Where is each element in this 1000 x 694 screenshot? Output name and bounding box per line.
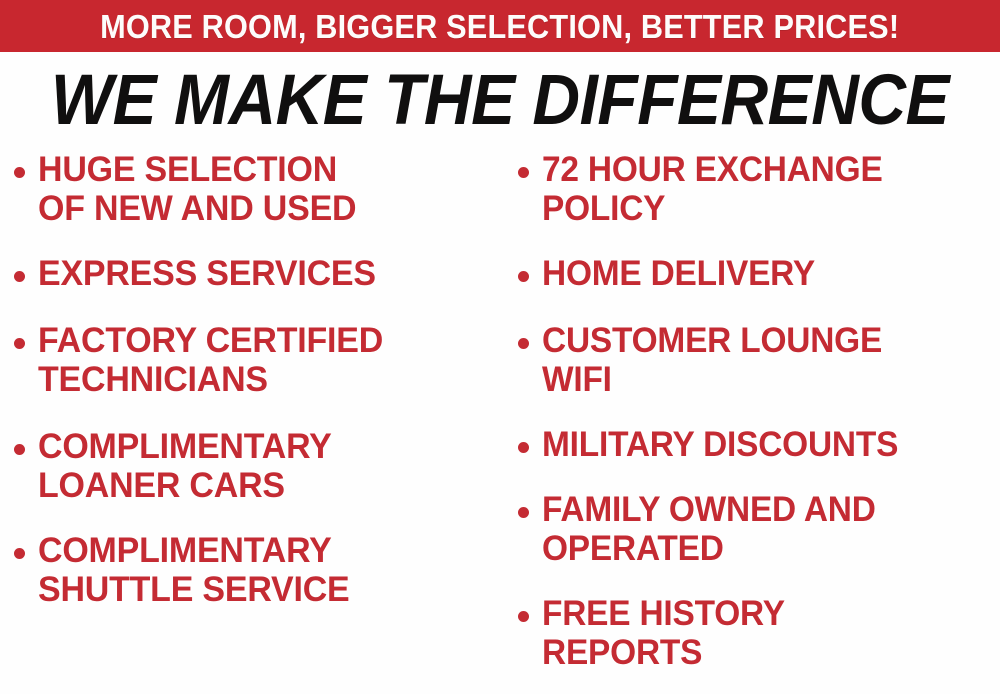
list-item: HOME DELIVERY <box>518 254 1000 293</box>
list-item-label: COMPLIMENTARY LOANER CARS <box>38 427 332 505</box>
list-item: COMPLIMENTARY LOANER CARS <box>14 427 504 505</box>
bullet-dot-icon <box>14 548 25 559</box>
list-item: MILITARY DISCOUNTS <box>518 425 1000 464</box>
list-item: 72 HOUR EXCHANGE POLICY <box>518 150 1000 228</box>
list-item-label: FACTORY CERTIFIED TECHNICIANS <box>38 321 383 399</box>
list-item-label: FREE HISTORY REPORTS <box>542 594 785 672</box>
promo-poster: MORE ROOM, BIGGER SELECTION, BETTER PRIC… <box>0 0 1000 694</box>
list-item: EXPRESS SERVICES <box>14 254 504 293</box>
benefits-column-left: HUGE SELECTION OF NEW AND USED EXPRESS S… <box>14 150 504 609</box>
bullet-dot-icon <box>518 271 529 282</box>
top-banner-text: MORE ROOM, BIGGER SELECTION, BETTER PRIC… <box>100 10 899 43</box>
list-item-label: EXPRESS SERVICES <box>38 254 376 293</box>
list-item-label: COMPLIMENTARY SHUTTLE SERVICE <box>38 531 350 609</box>
list-item: FAMILY OWNED AND OPERATED <box>518 490 1000 568</box>
list-item-label: HOME DELIVERY <box>542 254 815 293</box>
list-item: COMPLIMENTARY SHUTTLE SERVICE <box>14 531 504 609</box>
list-item: HUGE SELECTION OF NEW AND USED <box>14 150 504 228</box>
list-item: FACTORY CERTIFIED TECHNICIANS <box>14 321 504 399</box>
bullet-dot-icon <box>14 271 25 282</box>
bullet-dot-icon <box>518 507 529 518</box>
list-item-label: FAMILY OWNED AND OPERATED <box>542 490 876 568</box>
list-item: CUSTOMER LOUNGE WIFI <box>518 321 1000 399</box>
bullet-dot-icon <box>14 167 25 178</box>
list-item-label: MILITARY DISCOUNTS <box>542 425 898 464</box>
benefits-columns: HUGE SELECTION OF NEW AND USED EXPRESS S… <box>0 150 1000 694</box>
list-item-label: 72 HOUR EXCHANGE POLICY <box>542 150 883 228</box>
bullet-dot-icon <box>518 611 529 622</box>
bullet-dot-icon <box>518 338 529 349</box>
list-item: FREE HISTORY REPORTS <box>518 594 1000 672</box>
headline: WE MAKE THE DIFFERENCE <box>0 64 1000 136</box>
list-item-label: HUGE SELECTION OF NEW AND USED <box>38 150 356 228</box>
benefits-column-right: 72 HOUR EXCHANGE POLICY HOME DELIVERY CU… <box>518 150 1000 672</box>
bullet-dot-icon <box>14 338 25 349</box>
bullet-dot-icon <box>518 167 529 178</box>
list-item-label: CUSTOMER LOUNGE WIFI <box>542 321 882 399</box>
top-banner: MORE ROOM, BIGGER SELECTION, BETTER PRIC… <box>0 0 1000 52</box>
bullet-dot-icon <box>14 444 25 455</box>
headline-text: WE MAKE THE DIFFERENCE <box>51 64 949 135</box>
bullet-dot-icon <box>518 442 529 453</box>
